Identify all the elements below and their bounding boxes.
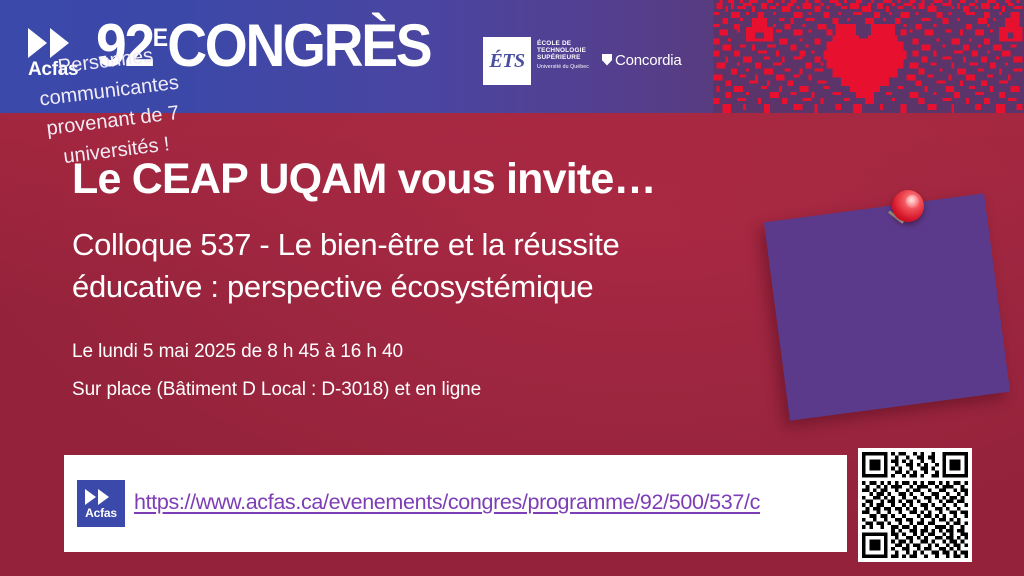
page-title: Le CEAP UQAM vous invite… bbox=[72, 157, 656, 202]
colloquium-subtitle-line-1: Colloque 537 - Le bien-être et la réussi… bbox=[72, 224, 752, 266]
pushpin-icon bbox=[884, 188, 928, 232]
double-chevron-icon bbox=[84, 489, 118, 506]
concordia-wordmark: Concordia bbox=[615, 52, 682, 69]
ets-logo: ÉTS bbox=[483, 37, 531, 85]
poster-canvas: Acfas 92ECONGRÈS ÉTS ÉCOLE DE TECHNOLOGI… bbox=[0, 0, 1024, 576]
ets-line-3: SUPÉRIEURE bbox=[537, 55, 589, 62]
pushpin-highlight bbox=[906, 195, 919, 208]
concordia-shield-icon bbox=[602, 54, 612, 66]
pixel-heart-pattern-icon bbox=[712, 0, 1024, 113]
acfas-logo-footer: Acfas bbox=[77, 480, 125, 527]
ets-line-4: Université du Québec bbox=[537, 65, 589, 71]
colloquium-subtitle-line-2: éducative : perspective écosystémique bbox=[72, 266, 752, 308]
concordia-logo: Concordia bbox=[602, 52, 682, 69]
colloquium-subtitle: Colloque 537 - Le bien-être et la réussi… bbox=[72, 224, 752, 308]
event-location: Sur place (Bâtiment D Local : D-3018) et… bbox=[72, 371, 481, 409]
ets-logo-wordmark: ÉCOLE DE TECHNOLOGIE SUPÉRIEURE Universi… bbox=[537, 41, 589, 70]
event-date: Le lundi 5 mai 2025 de 8 h 45 à 16 h 40 bbox=[72, 333, 481, 371]
acfas-wordmark: Acfas bbox=[85, 507, 117, 519]
qr-code-icon[interactable] bbox=[858, 448, 972, 562]
ets-monogram: ÉTS bbox=[489, 50, 524, 73]
event-url-link[interactable]: https://www.acfas.ca/evenements/congres/… bbox=[134, 490, 760, 515]
event-details: Le lundi 5 mai 2025 de 8 h 45 à 16 h 40 … bbox=[72, 333, 481, 409]
url-bar: Acfas https://www.acfas.ca/evenements/co… bbox=[64, 455, 847, 552]
